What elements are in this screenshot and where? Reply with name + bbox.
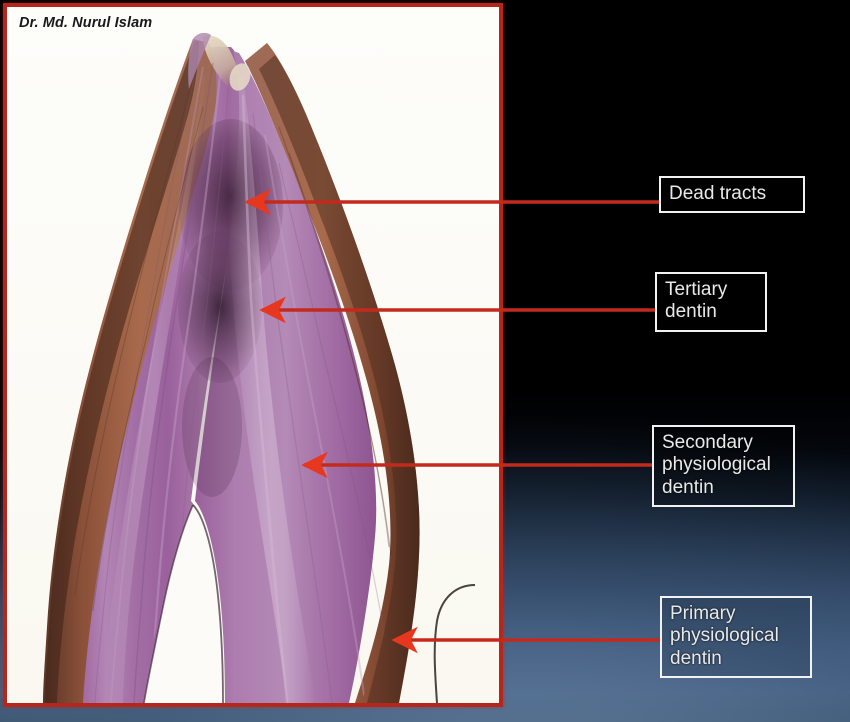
histology-photo-frame: Dr. Md. Nurul Islam xyxy=(3,3,503,707)
presentation-slide: Dr. Md. Nurul Islam Dead tracts Tertiary… xyxy=(0,0,850,722)
label-secondary-physiological-dentin[interactable]: Secondary physiological dentin xyxy=(652,425,795,507)
slide-artifact-hair xyxy=(435,585,475,703)
label-dead-tracts[interactable]: Dead tracts xyxy=(659,176,805,213)
label-primary-physiological-dentin[interactable]: Primary physiological dentin xyxy=(660,596,812,678)
author-watermark: Dr. Md. Nurul Islam xyxy=(19,15,152,31)
histology-photo: Dr. Md. Nurul Islam xyxy=(7,7,499,703)
tooth-ground-section-specimen xyxy=(7,7,499,703)
deep-shadow-zone xyxy=(182,357,242,497)
label-tertiary-dentin[interactable]: Tertiary dentin xyxy=(655,272,767,332)
